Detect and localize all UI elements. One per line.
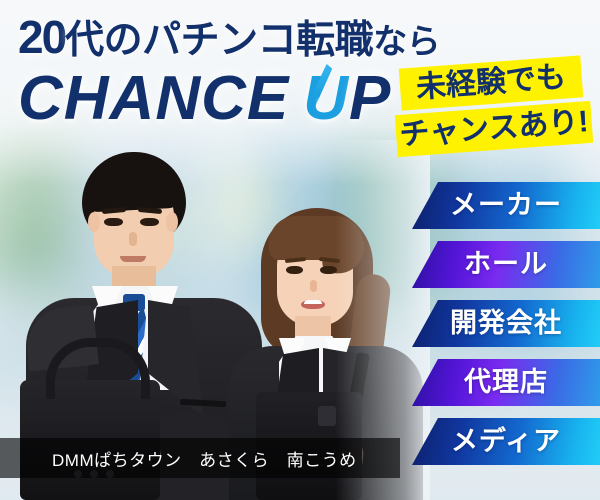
category-button-media[interactable]: メディア bbox=[412, 418, 600, 465]
brand-logo: CHANCE UP bbox=[18, 68, 391, 130]
category-button-hall[interactable]: ホール bbox=[412, 241, 600, 288]
category-label-maker: メーカー bbox=[450, 192, 562, 219]
category-label-hall: ホール bbox=[464, 251, 548, 278]
advertisement-banner[interactable]: 20代のパチンコ転職なら CHANCE UP 未経験でも チャンスあり! メーカ… bbox=[0, 0, 600, 500]
page-title: 20代のパチンコ転職なら bbox=[18, 14, 440, 60]
headline-middle: 代のパチンコ転職 bbox=[65, 19, 373, 62]
headline-number: 20 bbox=[18, 11, 65, 63]
category-label-development-company: 開発会社 bbox=[450, 310, 562, 337]
logo-p: P bbox=[349, 64, 391, 133]
category-label-media: メディア bbox=[451, 428, 561, 455]
category-button-development-company[interactable]: 開発会社 bbox=[412, 300, 600, 347]
caption-bar: DMMぱちタウン あさくら 南こうめ bbox=[0, 438, 400, 478]
headline-suffix: なら bbox=[373, 23, 440, 61]
logo-up: UP bbox=[303, 68, 391, 130]
category-button-maker[interactable]: メーカー bbox=[412, 182, 600, 229]
logo-chance: CHANCE bbox=[18, 64, 289, 133]
category-list: メーカー ホール 開発会社 代理店 メディア bbox=[0, 182, 600, 477]
category-label-agency: 代理店 bbox=[464, 369, 548, 396]
category-button-agency[interactable]: 代理店 bbox=[412, 359, 600, 406]
